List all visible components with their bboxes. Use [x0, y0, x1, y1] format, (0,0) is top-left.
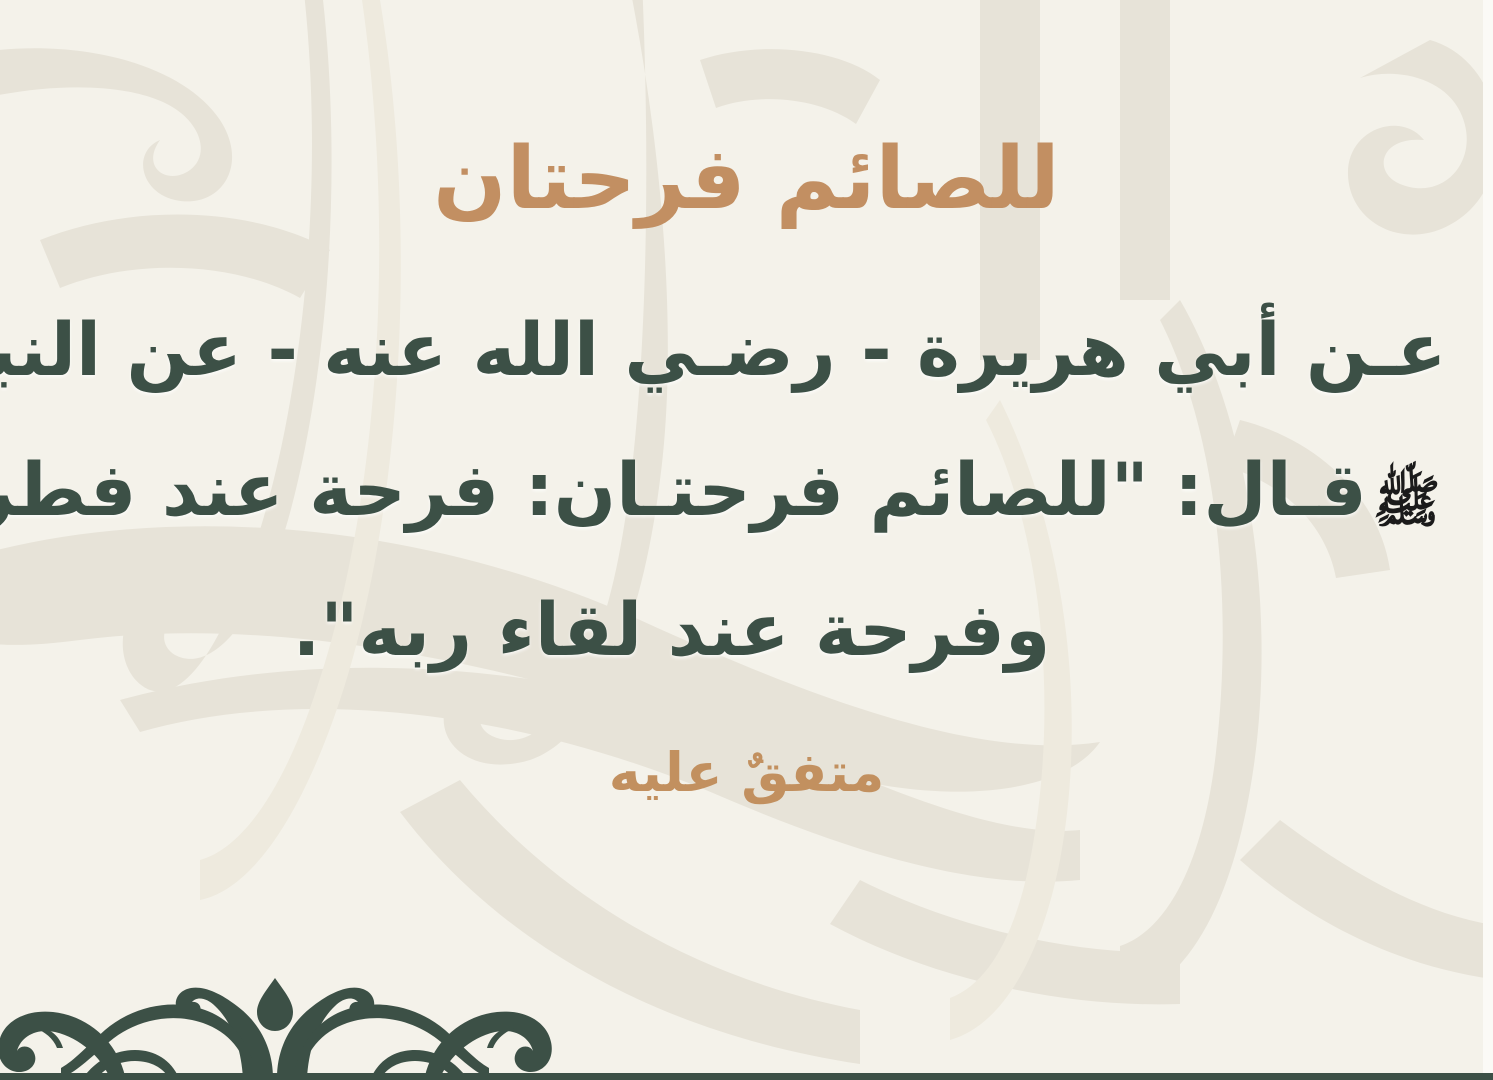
- pbuh-calligraphy-icon: ﷺ: [1373, 449, 1441, 557]
- hadith-text: عـن أبي هريرة - رضـي الله عنه - عن النبي…: [47, 281, 1447, 701]
- page-title: للصائم فرحتان: [433, 132, 1060, 227]
- hadith-line-3: وفرحة عند لقاء ربه".: [47, 561, 1447, 701]
- hadith-line-2: ﷺقـال: "للصائم فرحتـان: فرحة عند فطره: [47, 421, 1447, 561]
- hadith-line-1: عـن أبي هريرة - رضـي الله عنه - عن النبي: [47, 281, 1447, 421]
- hadith-line-2-text: قـال: "للصائم فرحتـان: فرحة عند فطره: [0, 448, 1367, 533]
- hadith-source: متفقٌ عليه: [609, 741, 885, 804]
- hadith-card: للصائم فرحتان عـن أبي هريرة - رضـي الله …: [0, 0, 1493, 1080]
- card-content: للصائم فرحتان عـن أبي هريرة - رضـي الله …: [0, 0, 1493, 1080]
